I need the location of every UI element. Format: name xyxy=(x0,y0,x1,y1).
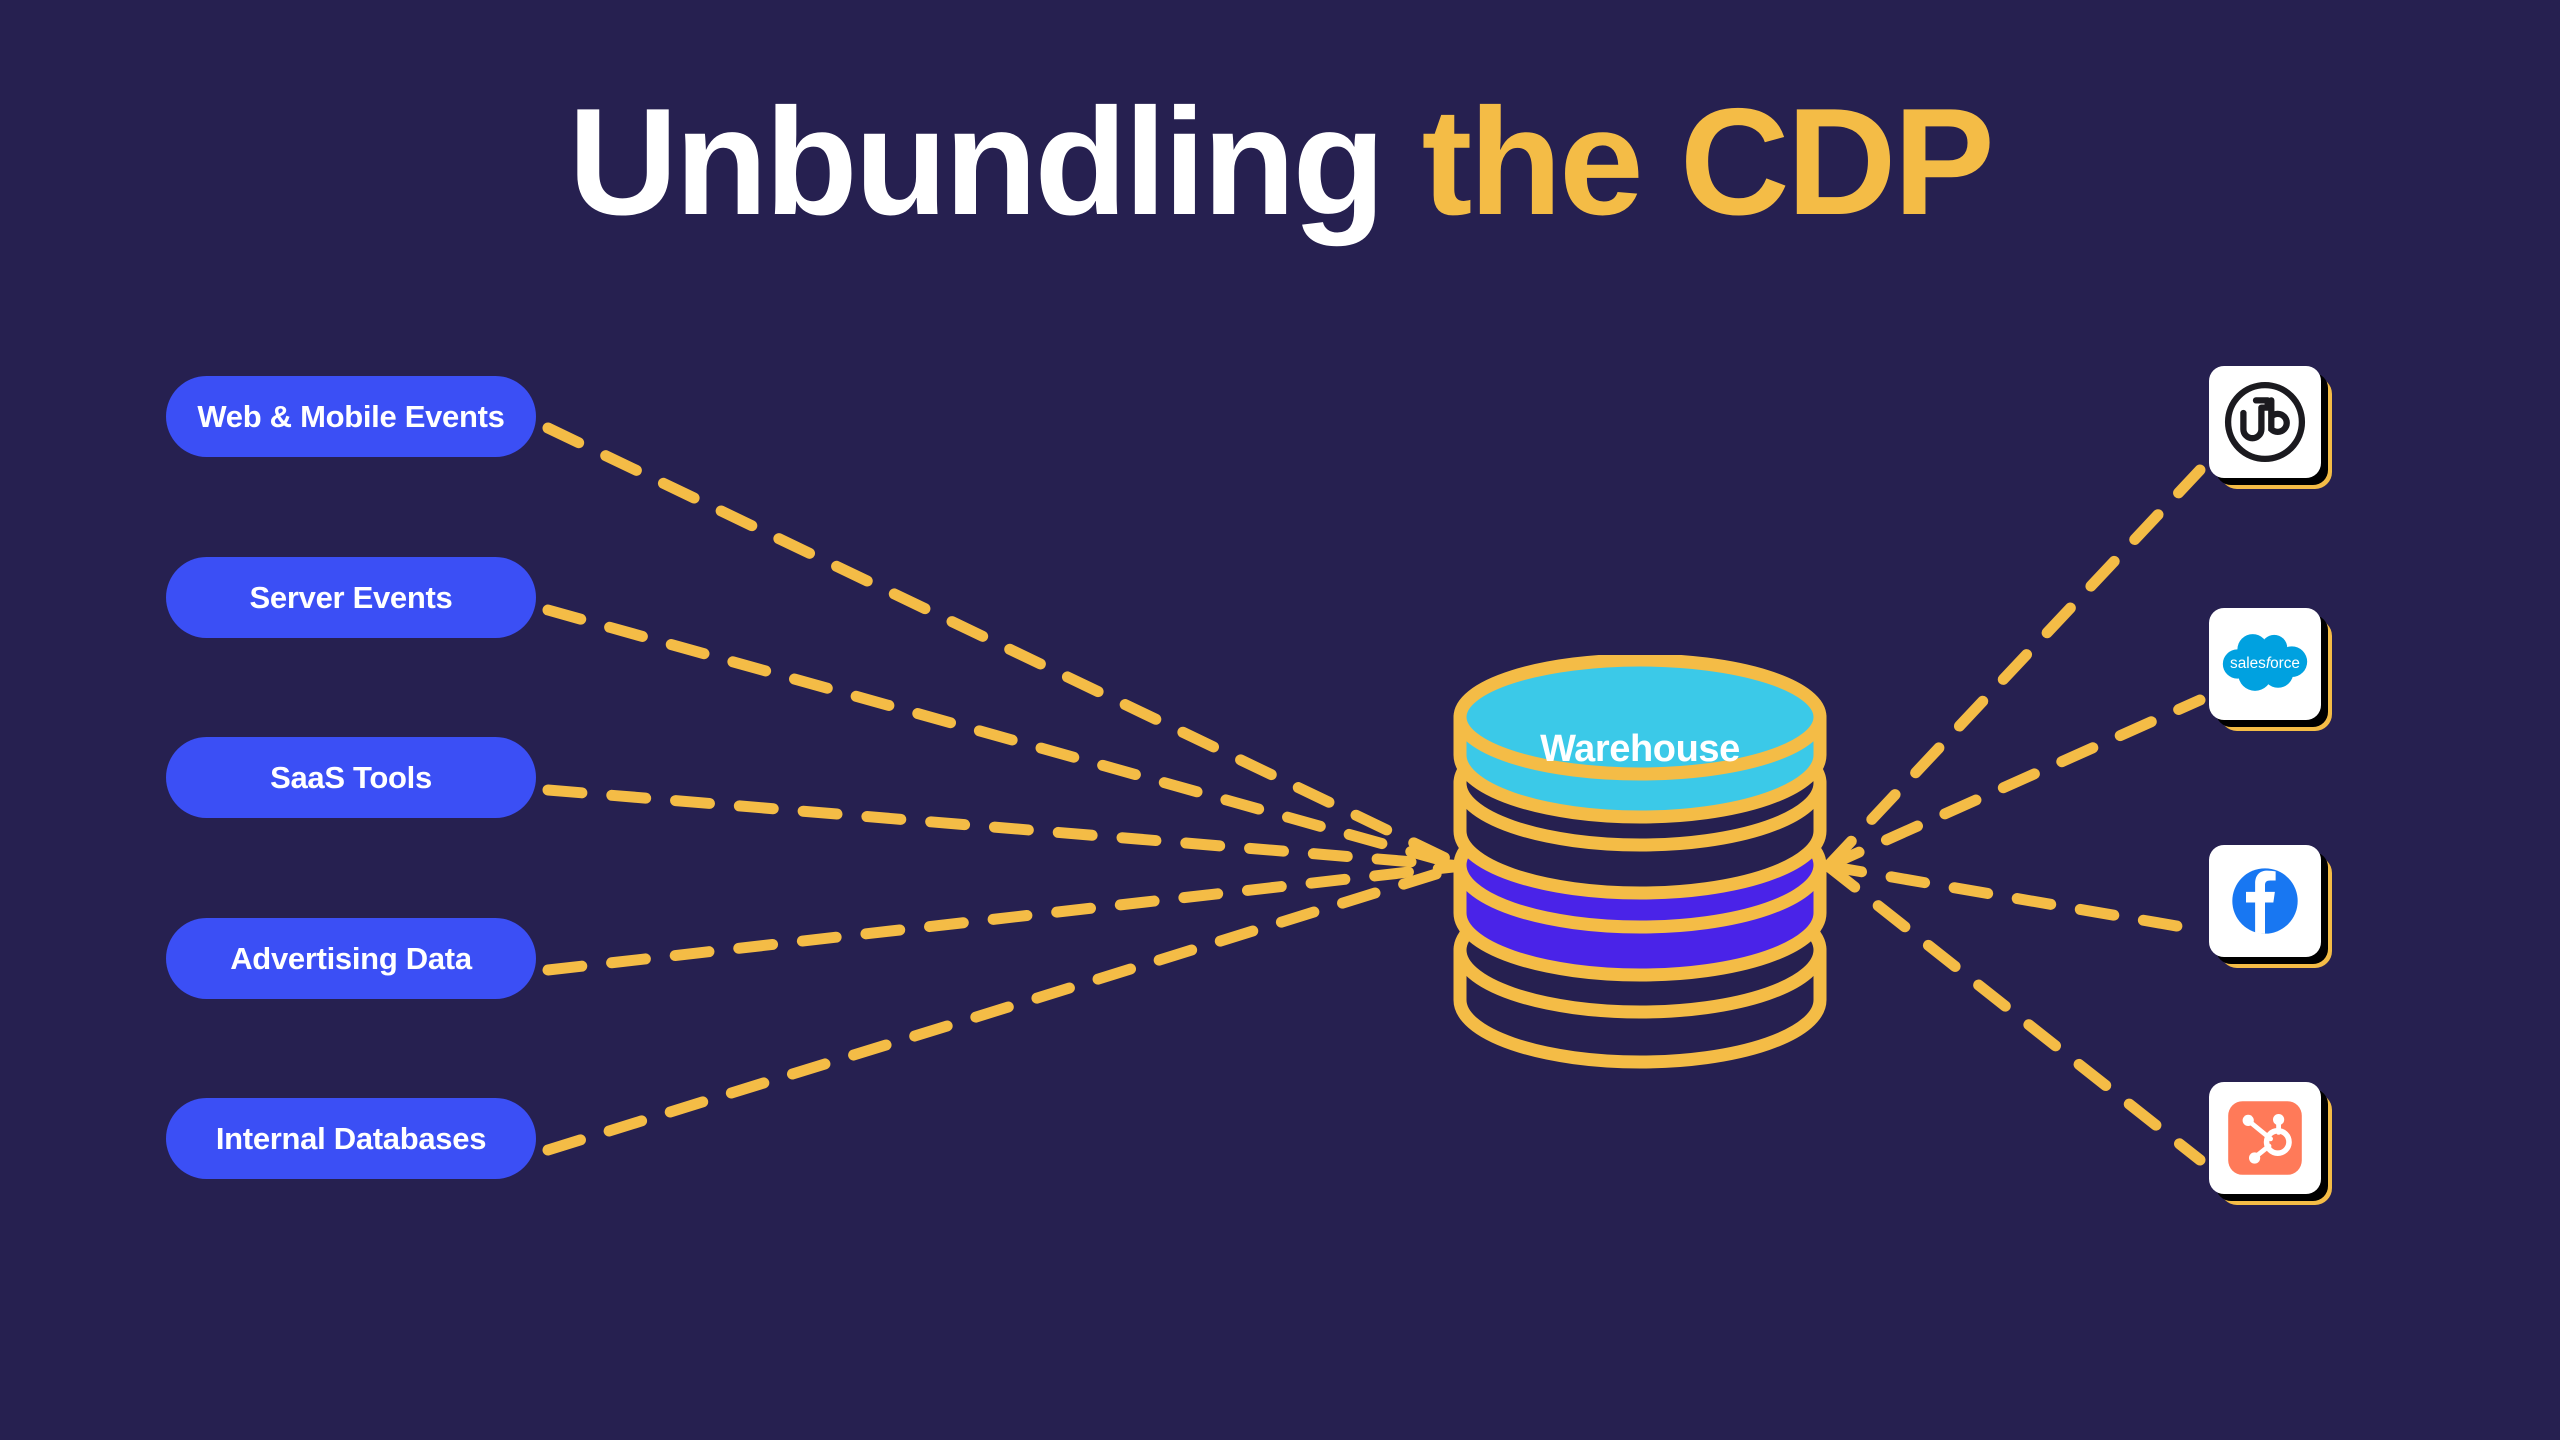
source-pill-server-events[interactable]: Server Events xyxy=(166,557,536,638)
destination-card-hubspot[interactable] xyxy=(2209,1082,2321,1194)
connector-warehouse-to-braze xyxy=(1828,470,2200,866)
source-pill-label: Web & Mobile Events xyxy=(197,399,504,435)
connector-advertising-data-to-warehouse xyxy=(548,866,1462,970)
card-face xyxy=(2209,845,2321,957)
source-pill-saas-tools[interactable]: SaaS Tools xyxy=(166,737,536,818)
connector-web-mobile-events-to-warehouse xyxy=(548,428,1462,866)
destination-card-salesforce[interactable]: salesforce xyxy=(2209,608,2321,720)
card-face: salesforce xyxy=(2209,608,2321,720)
braze-logo-icon xyxy=(2220,377,2310,467)
source-pill-label: Advertising Data xyxy=(230,941,472,977)
facebook-logo-icon xyxy=(2227,863,2303,939)
connector-server-events-to-warehouse xyxy=(548,610,1462,866)
source-pill-label: Internal Databases xyxy=(216,1121,486,1157)
connector-saas-tools-to-warehouse xyxy=(548,790,1462,866)
connector-internal-databases-to-warehouse xyxy=(548,866,1462,1150)
connector-warehouse-to-salesforce xyxy=(1828,700,2200,866)
source-pill-advertising-data[interactable]: Advertising Data xyxy=(166,918,536,999)
source-pill-web-mobile-events[interactable]: Web & Mobile Events xyxy=(166,376,536,457)
card-face xyxy=(2209,366,2321,478)
destination-card-braze[interactable] xyxy=(2209,366,2321,478)
connector-warehouse-to-hubspot xyxy=(1828,866,2200,1160)
source-pill-internal-databases[interactable]: Internal Databases xyxy=(166,1098,536,1179)
page-title: Unbundling the CDP xyxy=(0,86,2560,238)
title-white-part: Unbundling xyxy=(568,77,1382,247)
diagram-canvas: Unbundling the CDP Web & Mobile Events S… xyxy=(0,0,2560,1440)
card-face xyxy=(2209,1082,2321,1194)
warehouse-cylinder-icon[interactable] xyxy=(1440,655,1840,1075)
title-space xyxy=(1382,77,1421,247)
connector-warehouse-to-facebook xyxy=(1828,866,2200,930)
source-pill-label: SaaS Tools xyxy=(270,760,432,796)
hubspot-logo-icon xyxy=(2225,1098,2305,1178)
salesforce-logo-icon: salesforce xyxy=(2219,629,2311,699)
svg-text:salesforce: salesforce xyxy=(2230,655,2300,672)
source-pill-label: Server Events xyxy=(250,580,453,616)
title-gold-part: the CDP xyxy=(1422,77,1992,247)
destination-card-facebook[interactable] xyxy=(2209,845,2321,957)
